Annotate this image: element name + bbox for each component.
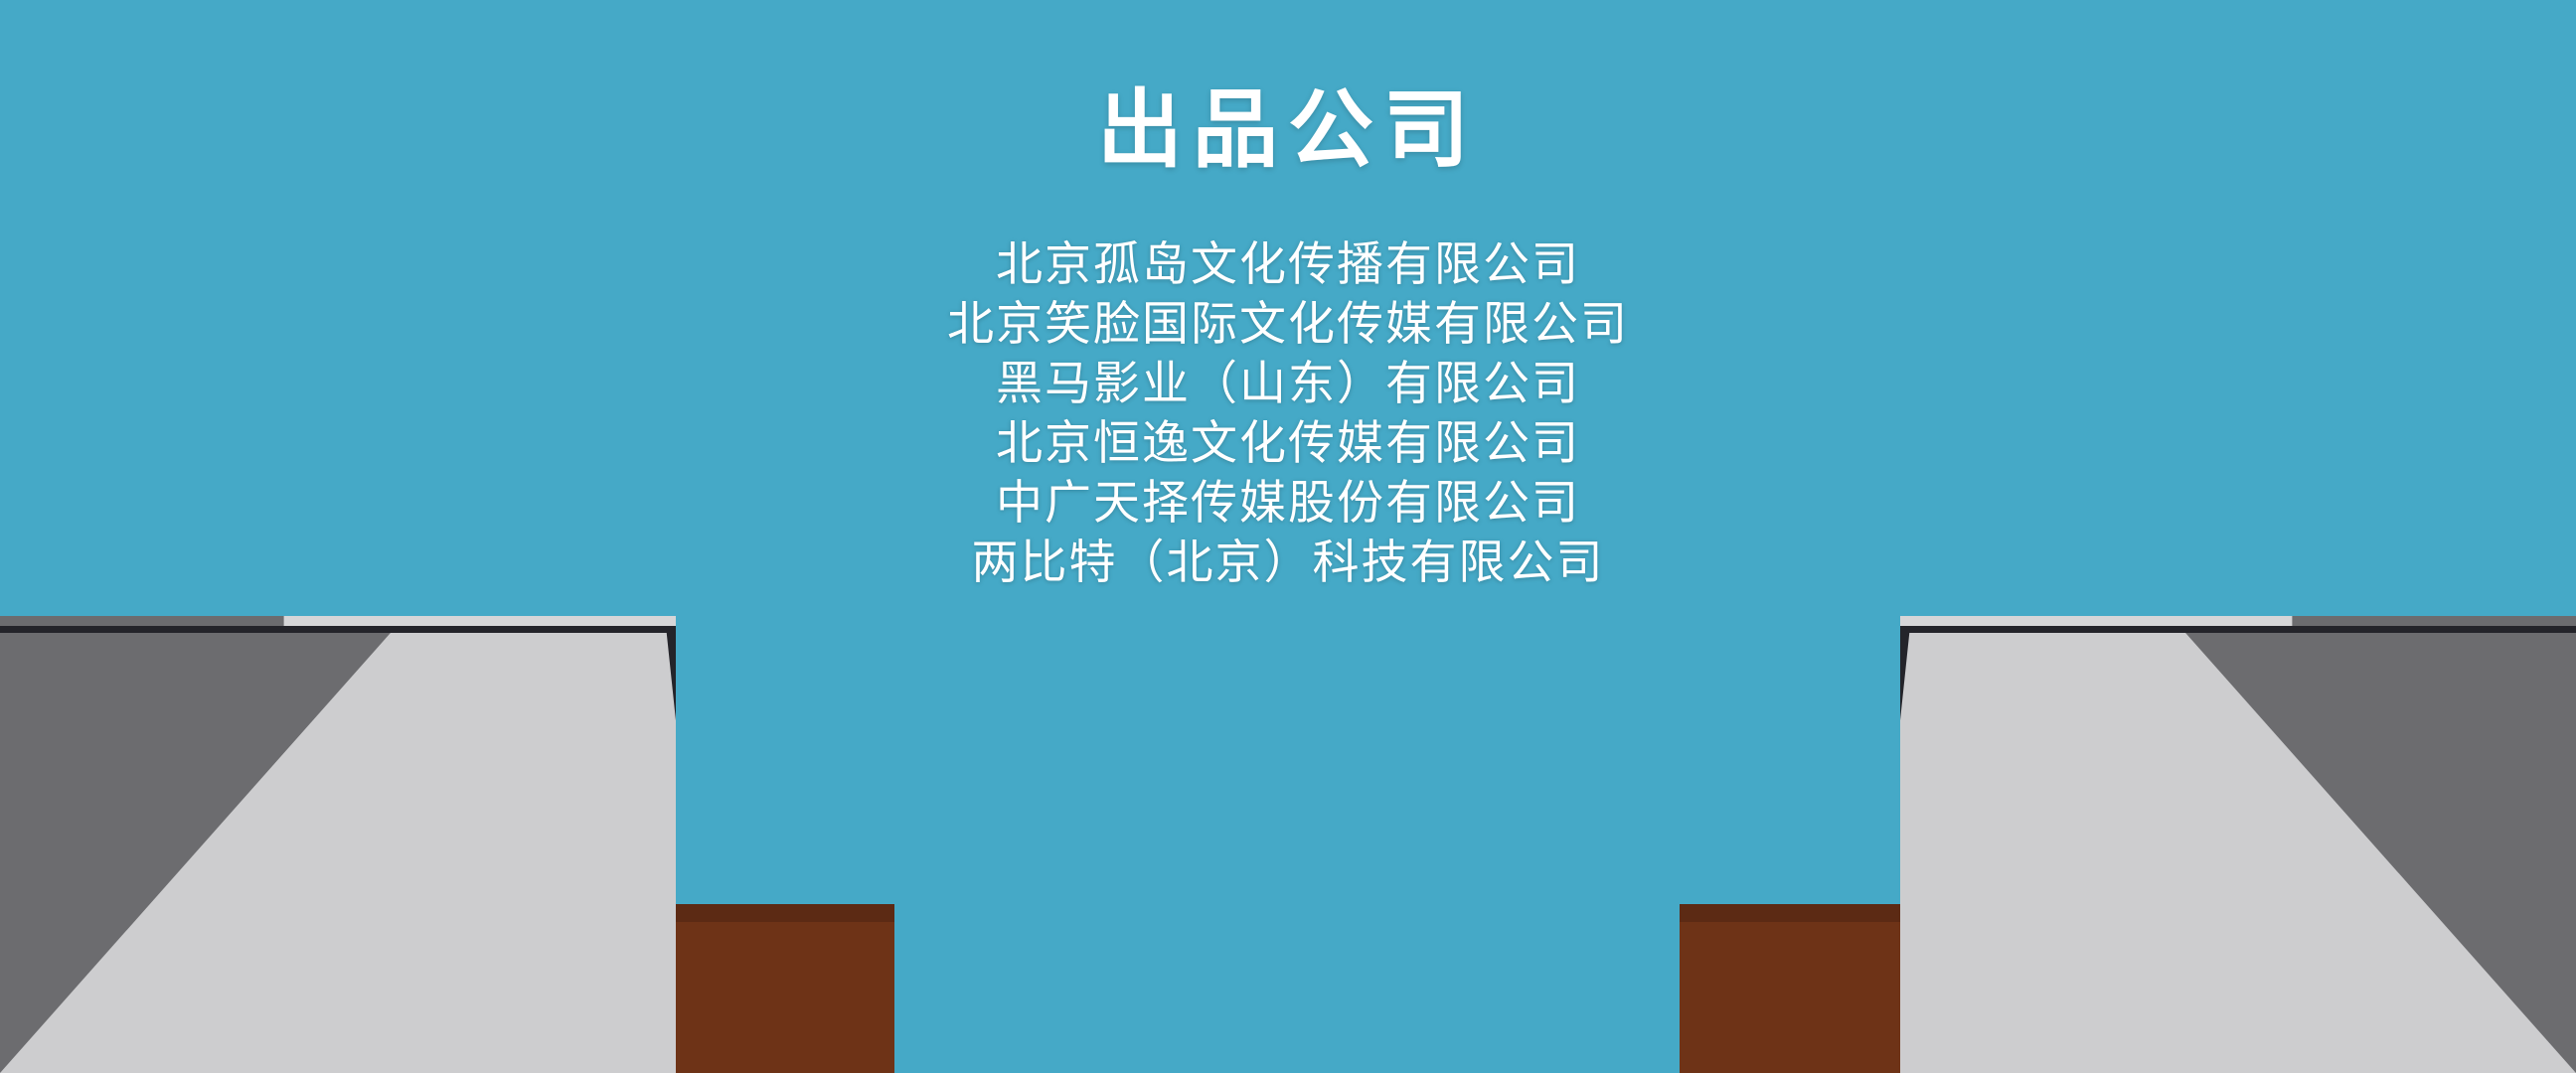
credits-screen: 出品公司 北京孤岛文化传播有限公司 北京笑脸国际文化传媒有限公司 黑马影业（山东…: [0, 0, 2576, 1073]
brown-wall-right-cap: [1680, 904, 1918, 922]
wall-left-parapet-line: [0, 626, 676, 633]
background-scene: [0, 0, 2576, 1073]
brown-wall-left-cap: [656, 904, 894, 922]
wall-right-parapet-line: [1900, 626, 2576, 633]
building-wall-left: [0, 616, 676, 1073]
brown-wall-right: [1680, 904, 1918, 1073]
building-wall-right: [1900, 616, 2576, 1073]
brown-wall-left: [656, 904, 894, 1073]
